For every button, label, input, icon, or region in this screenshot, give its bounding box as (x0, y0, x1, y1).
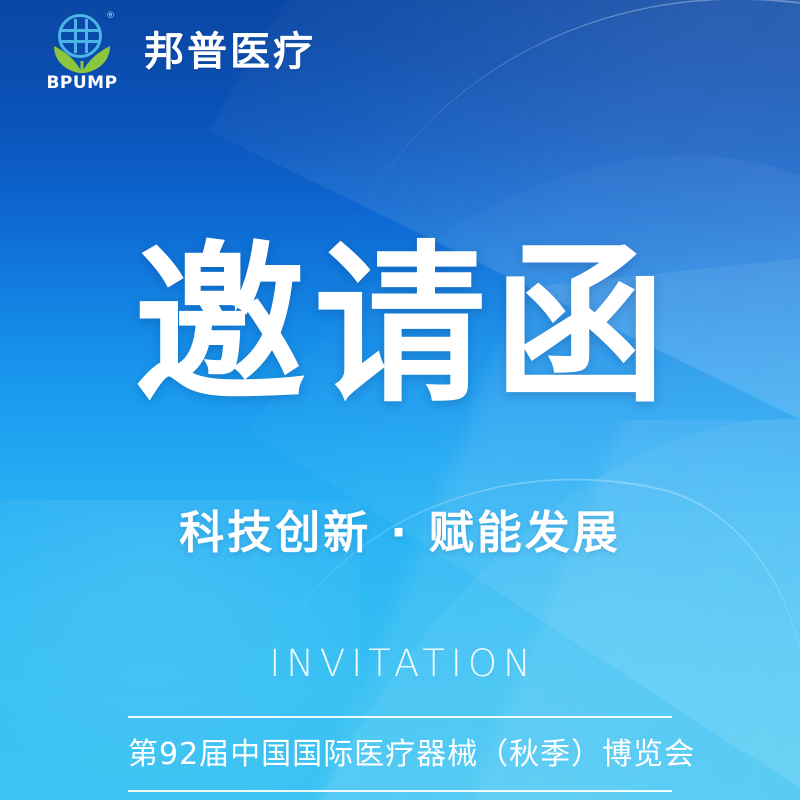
hero-subtitle: 科技创新 · 赋能发展 (0, 510, 800, 555)
logo-leaves-icon (48, 40, 116, 74)
hero-english-title: INVITATION (0, 645, 800, 682)
company-name: 邦普医疗 (144, 32, 316, 72)
hero-title: 邀请函 (126, 236, 674, 417)
brand-header: ® BPUMP 邦普医疗 (0, 0, 800, 104)
company-logo: ® BPUMP (44, 12, 120, 92)
event-bar: 第92届中国国际医疗器械（秋季）博览会 (128, 716, 672, 792)
event-name: 第92届中国国际医疗器械（秋季）博览会 (128, 718, 672, 790)
divider-bottom (128, 790, 672, 792)
registered-trademark-icon: ® (106, 12, 115, 21)
hero-title-container: 邀请函 (0, 236, 800, 417)
logo-grid-stroke-icon (61, 29, 99, 32)
invitation-poster: ® BPUMP 邦普医疗 邀请函 科技创新 · 赋能发展 INVITATION … (0, 0, 800, 800)
logo-wordmark: BPUMP (44, 75, 120, 92)
